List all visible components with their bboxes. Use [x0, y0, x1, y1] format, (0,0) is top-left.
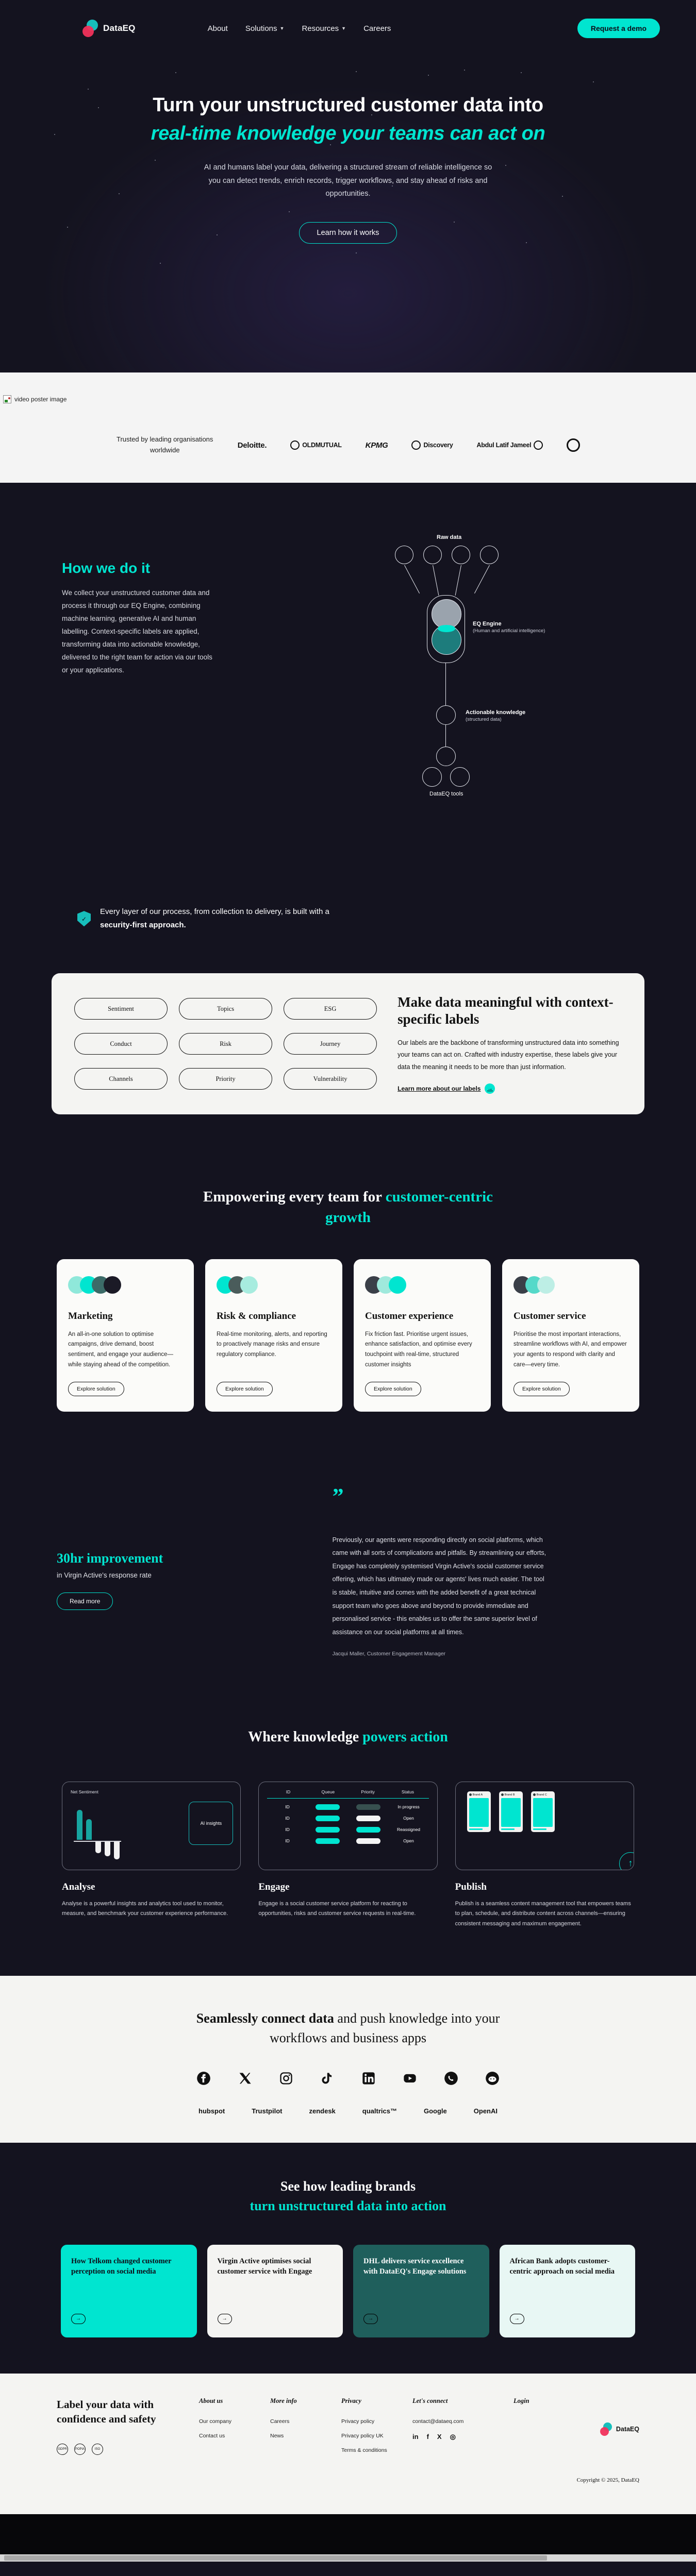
footer-headline-block: Label your data with confidence and safe… — [57, 2397, 175, 2462]
connect-section: Seamlessly connect data and push knowled… — [0, 1976, 696, 2143]
labels-title: Make data meaningful with context-specif… — [397, 994, 622, 1028]
brand-card-arrow-button[interactable]: → — [363, 2314, 378, 2324]
diagram-node-tools-right — [450, 767, 470, 787]
quote-mark-icon: ” — [333, 1489, 639, 1505]
card-body: Prioritise the most important interactio… — [513, 1330, 628, 1370]
security-banner: Every layer of our process, from collect… — [0, 885, 696, 963]
label-chip[interactable]: Topics — [179, 998, 272, 1020]
site-footer: Label your data with confidence and safe… — [0, 2374, 696, 2514]
logo-discovery: Discovery — [411, 440, 453, 450]
chevron-down-icon: ▼ — [341, 26, 346, 31]
learn-more-labels-link[interactable]: Learn more about our labels → — [397, 1083, 622, 1094]
logo-oldmutual: OLDMUTUAL — [290, 440, 341, 450]
brands-heading: See how leading brands turn unstructured… — [0, 2177, 696, 2215]
analyse-visual: Net Sentiment AI insights — [62, 1782, 241, 1870]
partner-logo-row: hubspot Trustpilot zendesk qualtrics™ Go… — [0, 2107, 696, 2115]
footer-col-title: Privacy — [341, 2397, 389, 2405]
request-demo-button[interactable]: Request a demo — [577, 19, 660, 38]
logo-deloitte: Deloitte. — [238, 441, 267, 450]
diagram-node-source-4 — [480, 546, 499, 564]
team-cards: Marketing An all-in-one solution to opti… — [0, 1259, 696, 1412]
diagram-edge-4 — [474, 565, 490, 594]
partner-openai: OpenAI — [474, 2107, 498, 2115]
card-title: Customer experience — [365, 1311, 479, 1323]
brand-card-title: Virgin Active optimises social customer … — [218, 2256, 333, 2314]
iso-badge-icon: ISO — [92, 2444, 103, 2455]
powers-body: Engage is a social customer service plat… — [258, 1899, 437, 1920]
chevron-down-icon: ▼ — [280, 26, 285, 31]
security-text-normal: Every layer of our process, from collect… — [100, 907, 329, 916]
row-status: In progress — [388, 1804, 428, 1809]
engage-table-row: IDIn progress — [267, 1804, 428, 1810]
card-title: Customer service — [513, 1311, 628, 1323]
ai-insights-badge: AI insights — [189, 1802, 233, 1845]
testimonial-section: 30hr improvement in Virgin Active's resp… — [0, 1453, 696, 1698]
engage-table-row: IDOpen — [267, 1816, 428, 1821]
engage-col-priority: Priority — [348, 1789, 388, 1794]
publish-visual: Brand A Brand B Brand C ↑ — [455, 1782, 634, 1870]
brand-card-telkom[interactable]: How Telkom changed customer perception o… — [61, 2245, 197, 2337]
diagram-label-eq-engine-sub: (Human and artificial intelligence) — [473, 628, 545, 634]
gdpr-badge-icon: GDPR — [57, 2444, 68, 2455]
trusted-logos-section: video poster image Trusted by leading or… — [0, 372, 696, 483]
team-card-customer-service[interactable]: Customer service Prioritise the most imp… — [502, 1259, 639, 1412]
footer-col-more-info: More info Careers News — [270, 2397, 318, 2462]
arrow-up-icon: ↑ — [619, 1852, 634, 1870]
brand-logo[interactable]: DataEQ — [82, 20, 136, 37]
brand-card-african-bank[interactable]: African Bank adopts customer-centric app… — [500, 2245, 636, 2337]
footer-col-title: About us — [199, 2397, 246, 2405]
arrow-right-icon: → — [485, 1083, 495, 1094]
diagram-node-source-3 — [452, 546, 470, 564]
analyse-chart-title: Net Sentiment — [71, 1789, 232, 1794]
nav-label: About — [208, 24, 228, 33]
hero-section: Turn your unstructured customer data int… — [0, 57, 696, 372]
row-status: Open — [388, 1816, 428, 1821]
diagram-node-actionable — [436, 705, 456, 725]
footer-col-about: About us Our company Contact us — [199, 2397, 246, 2462]
engage-table-header: ID Queue Priority Status — [267, 1789, 428, 1799]
dataeq-logo-icon — [82, 20, 100, 37]
compliance-badges: GDPR POPIA ISO — [57, 2444, 175, 2455]
how-text-block: How we do it We collect your unstructure… — [0, 529, 320, 849]
footer-col-title: Let's connect — [412, 2397, 490, 2405]
partner-google: Google — [424, 2107, 447, 2115]
row-id: ID — [267, 1804, 307, 1809]
video-poster-placeholder: video poster image — [0, 386, 696, 403]
brand-card-arrow-button[interactable]: → — [510, 2314, 524, 2324]
engage-col-queue: Queue — [308, 1789, 348, 1794]
marketing-blob-icon — [68, 1273, 183, 1297]
diagram-label-raw-data: Raw data — [437, 534, 461, 540]
card-body: An all-in-one solution to optimise campa… — [68, 1330, 183, 1370]
footer-col-privacy: Privacy Privacy policy Privacy policy UK… — [341, 2397, 389, 2462]
connect-heading-bold: Seamlessly connect data — [196, 2011, 334, 2026]
trusted-label: Trusted by leading organisations worldwi… — [116, 434, 214, 456]
diagram-edge-2 — [433, 565, 439, 596]
powers-body: Analyse is a powerful insights and analy… — [62, 1899, 241, 1920]
brand-card-title: DHL delivers service excellence with Dat… — [363, 2256, 479, 2314]
whatsapp-icon[interactable] — [444, 2071, 458, 2086]
copyright: Copyright © 2025, DataEQ — [0, 2462, 696, 2483]
team-card-risk-compliance[interactable]: Risk & compliance Real-time monitoring, … — [205, 1259, 342, 1412]
label-chip-grid: Sentiment Topics ESG Conduct Risk Journe… — [74, 994, 377, 1093]
hero-subtext: AI and humans label your data, deliverin… — [204, 161, 492, 200]
security-text: Every layer of our process, from collect… — [100, 905, 329, 933]
footer-col-title: More info — [270, 2397, 318, 2405]
powers-col-engage: ID Queue Priority Status IDIn progress I… — [258, 1782, 437, 1929]
row-id: ID — [267, 1816, 307, 1821]
diagram-edge-3 — [455, 565, 461, 596]
footer-col-connect: Let's connect contact@dataeq.com in f X … — [412, 2397, 490, 2462]
nav-label: Careers — [363, 24, 391, 33]
logo-row: Trusted by leading organisations worldwi… — [0, 434, 696, 456]
partner-hubspot: hubspot — [198, 2107, 225, 2115]
facebook-icon[interactable]: f — [427, 2433, 429, 2441]
powers-body: Publish is a seamless content management… — [455, 1899, 634, 1929]
bottom-black-bar — [0, 2514, 696, 2554]
row-status: Reassigned — [388, 1827, 428, 1832]
brand-card-dhl[interactable]: DHL delivers service excellence with Dat… — [353, 2245, 489, 2337]
card-title: Marketing — [68, 1311, 183, 1323]
brand-label-a: Brand A — [469, 1793, 489, 1797]
logo-text: Deloitte. — [238, 441, 267, 450]
toyota-mark-icon — [567, 438, 580, 452]
oldmutual-mark-icon — [290, 440, 300, 450]
nav-links: About Solutions▼ Resources▼ Careers — [208, 24, 391, 33]
label-chip[interactable]: Channels — [74, 1068, 168, 1090]
social-icon-row — [0, 2071, 696, 2086]
label-chip[interactable]: Priority — [179, 1068, 272, 1090]
testimonial-quote-block: ” Previously, our agents were responding… — [333, 1489, 639, 1657]
instagram-icon[interactable] — [279, 2071, 293, 2086]
partner-zendesk: zendesk — [309, 2107, 335, 2115]
tiktok-icon[interactable] — [320, 2071, 335, 2086]
teams-heading: Empowering every team for customer-centr… — [188, 1187, 508, 1228]
brand-label-b: Brand B — [501, 1793, 521, 1797]
how-title: How we do it — [62, 560, 320, 577]
brand-case-cards: How Telkom changed customer perception o… — [0, 2216, 696, 2337]
nav-item-about[interactable]: About — [208, 24, 228, 33]
diagram-label-tools: DataEQ tools — [429, 791, 463, 797]
explore-solution-button[interactable]: Explore solution — [217, 1382, 273, 1396]
read-more-button[interactable]: Read more — [57, 1592, 113, 1610]
footer-link-privacy-policy-uk[interactable]: Privacy policy UK — [341, 2433, 389, 2439]
powers-columns: Net Sentiment AI insights Analyse Analys… — [0, 1782, 696, 1929]
testimonial-stat-block: 30hr improvement in Virgin Active's resp… — [57, 1489, 302, 1657]
brand-card-virgin-active[interactable]: Virgin Active optimises social customer … — [207, 2245, 343, 2337]
partner-qualtrics: qualtrics™ — [362, 2107, 397, 2115]
footer-col-title[interactable]: Login — [513, 2397, 561, 2405]
hero-heading-line1: Turn your unstructured customer data int… — [153, 94, 543, 116]
teams-heading-normal: Empowering every team for — [203, 1189, 386, 1205]
footer-inner: Label your data with confidence and safe… — [0, 2397, 696, 2462]
engage-visual: ID Queue Priority Status IDIn progress I… — [258, 1782, 437, 1870]
powers-heading-accent: powers action — [362, 1729, 448, 1745]
popia-badge-icon: POPIA — [74, 2444, 86, 2455]
x-icon[interactable] — [238, 2071, 252, 2086]
label-chip[interactable]: ESG — [284, 998, 377, 1020]
logo-text: OLDMUTUAL — [302, 442, 341, 449]
footer-link-careers[interactable]: Careers — [270, 2418, 318, 2425]
powers-heading: Where knowledge powers action — [0, 1729, 696, 1745]
nav-item-solutions[interactable]: Solutions▼ — [245, 24, 285, 33]
diagram-node-tools-left — [422, 767, 442, 787]
engage-table-row: IDReassigned — [267, 1827, 428, 1833]
row-id: ID — [267, 1838, 307, 1843]
label-chip[interactable]: Vulnerability — [284, 1068, 377, 1090]
logo-toyota — [567, 438, 580, 452]
logo-text: KPMG — [366, 441, 388, 450]
brand-label-c: Brand C — [533, 1793, 553, 1797]
card-title: Risk & compliance — [217, 1311, 331, 1323]
link-label: Learn more about our labels — [397, 1085, 480, 1092]
powers-title: Analyse — [62, 1882, 241, 1893]
publish-phone-b: Brand B — [499, 1791, 523, 1832]
card-body: Real-time monitoring, alerts, and report… — [217, 1330, 331, 1370]
top-navigation: DataEQ About Solutions▼ Resources▼ Caree… — [0, 0, 696, 57]
teams-section: Empowering every team for customer-centr… — [0, 1156, 696, 1453]
labels-section: Sentiment Topics ESG Conduct Risk Journe… — [0, 963, 696, 1155]
diagram-edge-1 — [404, 565, 420, 594]
hero-heading-accent: real-time knowledge your teams can act o… — [0, 121, 696, 146]
shield-check-icon — [77, 911, 91, 926]
partner-trustpilot: Trustpilot — [252, 2107, 282, 2115]
explore-solution-button[interactable]: Explore solution — [365, 1382, 421, 1396]
horizontal-scrollbar[interactable] — [0, 2554, 696, 2562]
label-chip[interactable]: Sentiment — [74, 998, 168, 1020]
diagram-node-source-1 — [395, 546, 413, 564]
diagram-edge-5 — [445, 663, 446, 705]
testimonial-stat-sub: in Virgin Active's response rate — [57, 1571, 302, 1579]
dataeq-logo-icon — [600, 2422, 614, 2436]
linkedin-icon[interactable] — [361, 2071, 376, 2086]
powers-heading-normal: Where knowledge — [248, 1729, 362, 1745]
risk-blob-icon — [217, 1273, 331, 1297]
row-status: Open — [388, 1838, 428, 1843]
engage-table-row: IDOpen — [267, 1838, 428, 1844]
diagram-label-actionable: Actionable knowledge — [466, 709, 525, 716]
footer-col-login: Login — [513, 2397, 561, 2462]
row-id: ID — [267, 1827, 307, 1832]
hero-spacer — [0, 244, 696, 336]
team-card-customer-experience[interactable]: Customer experience Fix friction fast. P… — [354, 1259, 491, 1412]
brand-name: DataEQ — [103, 23, 136, 33]
testimonial-stat: 30hr improvement — [57, 1551, 302, 1566]
how-diagram: Raw data EQ Engine (Human and artificial… — [320, 529, 696, 849]
diagram-node-source-2 — [423, 546, 442, 564]
diagram-overlap — [438, 625, 455, 632]
logo-abdul-latif-jameel: Abdul Latif Jameel — [477, 440, 543, 450]
cs-blob-icon — [513, 1273, 628, 1297]
powers-action-section: Where knowledge powers action Net Sentim… — [0, 1698, 696, 1976]
footer-link-privacy-policy[interactable]: Privacy policy — [341, 2418, 389, 2425]
labels-text-block: Make data meaningful with context-specif… — [397, 994, 622, 1093]
explore-solution-button[interactable]: Explore solution — [513, 1382, 570, 1396]
team-card-marketing[interactable]: Marketing An all-in-one solution to opti… — [57, 1259, 194, 1412]
logo-text: Discovery — [423, 442, 453, 449]
footer-link-email[interactable]: contact@dataeq.com — [412, 2418, 490, 2425]
learn-how-it-works-button[interactable]: Learn how it works — [299, 222, 397, 244]
diagram-node-tools-top — [436, 747, 456, 766]
footer-logo-text: DataEQ — [616, 2426, 639, 2433]
nav-label: Solutions — [245, 24, 277, 33]
connect-heading: Seamlessly connect data and push knowled… — [188, 2009, 508, 2047]
powers-title: Engage — [258, 1882, 437, 1893]
label-chip[interactable]: Conduct — [74, 1033, 168, 1055]
brand-card-title: African Bank adopts customer-centric app… — [510, 2256, 625, 2314]
footer-headline: Label your data with confidence and safe… — [57, 2397, 175, 2427]
footer-link-terms[interactable]: Terms & conditions — [341, 2447, 389, 2453]
logo-kpmg: KPMG — [366, 441, 388, 450]
brands-section: See how leading brands turn unstructured… — [0, 2143, 696, 2373]
footer-link-our-company[interactable]: Our company — [199, 2418, 246, 2425]
label-chip[interactable]: Risk — [179, 1033, 272, 1055]
how-we-do-it-section: How we do it We collect your unstructure… — [0, 483, 696, 885]
powers-col-publish: Brand A Brand B Brand C ↑ Publish Publis… — [455, 1782, 634, 1929]
diagram-edge-6 — [445, 725, 446, 747]
powers-col-analyse: Net Sentiment AI insights Analyse Analys… — [62, 1782, 241, 1929]
cx-blob-icon — [365, 1273, 479, 1297]
hero-heading: Turn your unstructured customer data int… — [0, 93, 696, 146]
explore-solution-button[interactable]: Explore solution — [68, 1382, 124, 1396]
facebook-icon[interactable] — [196, 2071, 211, 2086]
x-icon[interactable]: X — [437, 2433, 442, 2441]
nav-label: Resources — [302, 24, 339, 33]
brands-heading-accent: turn unstructured data into action — [250, 2198, 446, 2213]
labels-body: Our labels are the backbone of transform… — [397, 1037, 622, 1073]
logo-text: Abdul Latif Jameel — [477, 442, 532, 449]
discovery-mark-icon — [411, 440, 421, 450]
nav-item-resources[interactable]: Resources▼ — [302, 24, 346, 33]
reddit-icon[interactable] — [485, 2071, 500, 2086]
publish-phone-a: Brand A — [467, 1791, 491, 1832]
footer-link-contact-us[interactable]: Contact us — [199, 2433, 246, 2439]
youtube-icon[interactable] — [403, 2071, 417, 2086]
label-chip[interactable]: Journey — [284, 1033, 377, 1055]
footer-logo: DataEQ — [600, 2397, 639, 2462]
powers-title: Publish — [455, 1882, 634, 1893]
instagram-icon[interactable]: ◎ — [450, 2433, 456, 2441]
engage-col-status: Status — [388, 1789, 427, 1794]
testimonial-quote: Previously, our agents were responding d… — [333, 1534, 549, 1639]
how-body: We collect your unstructured customer da… — [62, 587, 217, 677]
brands-heading-line1: See how leading brands — [280, 2179, 416, 2194]
footer-link-news[interactable]: News — [270, 2433, 318, 2439]
video-poster-alt-text: video poster image — [14, 396, 67, 403]
testimonial-attribution: Jacqui Maller, Customer Engagement Manag… — [333, 1651, 639, 1657]
diagram-label-actionable-sub: (structured data) — [466, 717, 502, 722]
broken-image-icon — [3, 395, 11, 403]
nav-item-careers[interactable]: Careers — [363, 24, 391, 33]
diagram-label-eq-engine: EQ Engine — [473, 621, 502, 627]
linkedin-icon[interactable]: in — [412, 2433, 419, 2441]
labels-card: Sentiment Topics ESG Conduct Risk Journe… — [52, 973, 644, 1114]
brand-card-arrow-button[interactable]: → — [71, 2314, 86, 2324]
alj-mark-icon — [534, 440, 543, 450]
card-body: Fix friction fast. Prioritise urgent iss… — [365, 1330, 479, 1370]
scrollbar-thumb[interactable] — [4, 2555, 547, 2561]
security-text-bold: security-first approach. — [100, 921, 186, 929]
publish-phone-c: Brand C — [531, 1791, 555, 1832]
brand-card-arrow-button[interactable]: → — [218, 2314, 232, 2324]
brand-card-title: How Telkom changed customer perception o… — [71, 2256, 187, 2314]
engage-col-id: ID — [268, 1789, 308, 1794]
footer-social-row: in f X ◎ — [412, 2433, 490, 2441]
